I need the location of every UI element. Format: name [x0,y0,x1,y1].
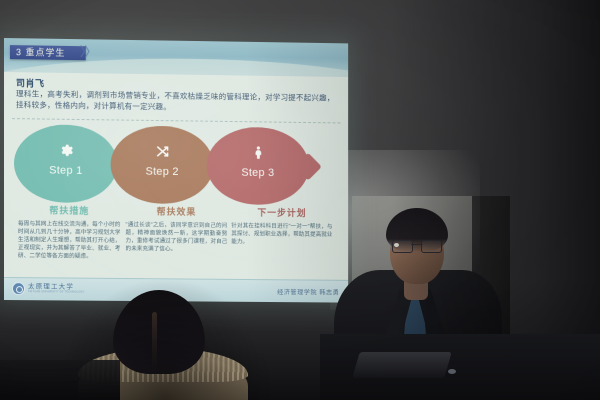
student-description: 理科生，高考失利，调剂到市场营销专业，不喜欢枯燥乏味的管科理论，对学习提不起兴趣… [16,88,334,114]
step-3-label: Step 3 [207,166,309,179]
column-3-body: 针对其在挂科科目进行"一对一"帮扶，与其探讨、规划职业选择，帮助其提高就业能力。 [231,222,332,247]
column-effects: 帮扶效果 "通过长谈"之后，该同学意识到自己的问题，精神面貌焕然一新，这学期勤奋… [125,205,227,254]
section-divider [12,118,340,123]
university-logo: 太原理工大学 TAIYUAN UNIVERSITY OF TECHNOLOGY [12,282,85,296]
step-1-label: Step 1 [14,164,118,177]
chevron-right-icon: 〉〉 [80,45,95,59]
audience-head [113,290,205,374]
slide-header-band: 3 重点学生 〉〉 [4,38,348,77]
column-2-heading: 帮扶效果 [125,205,227,218]
column-1-body: 每周与其网上在线交流沟通，每个小时的时间从几到几十分钟，高中学习规划大学生活和制… [18,220,121,261]
column-3-heading: 下一步计划 [231,206,332,219]
column-measures: 帮扶措施 每周与其网上在线交流沟通，每个小时的时间从几到几十分钟，高中学习规划大… [18,204,121,261]
step-blob-1: Step 1 [14,124,118,203]
shuffle-arrows-icon [111,142,214,159]
glasses-lens-right [421,240,442,253]
slide-text-columns: 帮扶措施 每周与其网上在线交流沟通，每个小时的时间从几到几十分钟，高中学习规划大… [14,204,340,287]
column-1-heading: 帮扶措施 [18,204,121,217]
step-2-label: Step 2 [111,165,214,178]
step-blob-2: Step 2 [111,125,214,204]
presentation-room-photo: 3 重点学生 〉〉 司肖飞 理科生，高考失利，调剂到市场营销专业，不喜欢枯燥乏味… [0,0,600,400]
column-2-body: "通过长谈"之后，该同学意识到自己的问题，精神面貌焕然一新，这学期勤奋努力，重修… [125,221,227,254]
university-seal-icon [12,282,25,295]
column-next-plan: 下一步计划 针对其在挂科科目进行"一对一"帮扶，与其探讨、规划职业选择，帮助其提… [231,206,332,247]
desk-reflection [352,352,451,378]
projected-slide: 3 重点学生 〉〉 司肖飞 理科生，高考失利，调剂到市场营销专业，不喜欢枯燥乏味… [4,38,348,303]
lens-glint [394,243,399,247]
slide-section-badge: 3 重点学生 [10,45,86,60]
audience-hair-highlight [152,312,157,372]
glasses-icon [392,240,442,251]
step-blobs-row: Step 1 Step 2 [14,124,338,205]
glasses-lens-left [392,240,413,253]
person-icon [207,144,309,161]
desk-object [448,369,456,374]
step-blob-3: Step 3 [207,127,309,206]
university-name-en: TAIYUAN UNIVERSITY OF TECHNOLOGY [28,290,85,294]
foreground-bench [0,360,120,400]
gear-icon [14,141,118,158]
